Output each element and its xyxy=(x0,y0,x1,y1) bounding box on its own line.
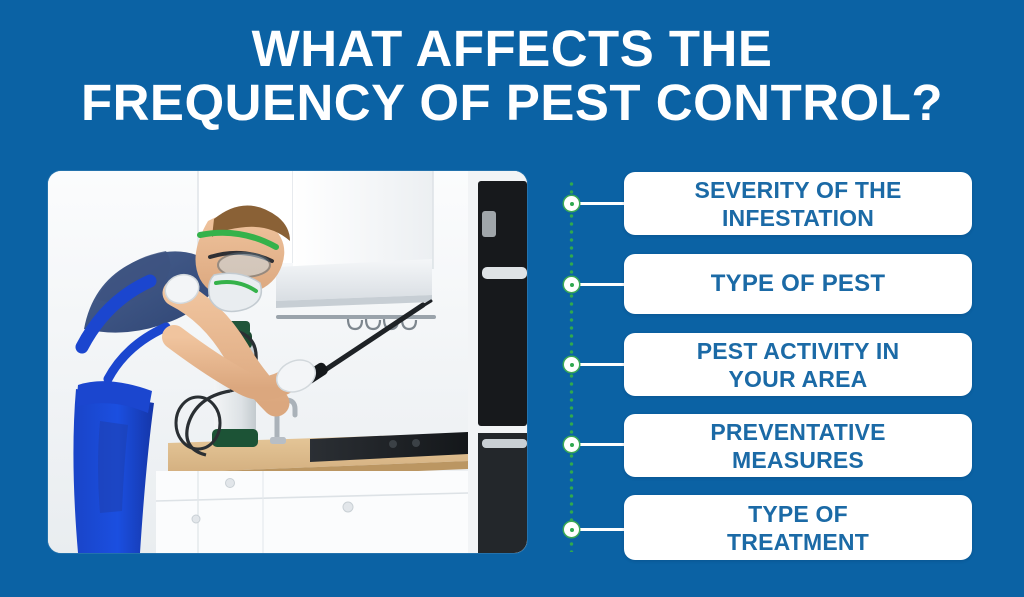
timeline-node-1 xyxy=(564,196,579,211)
connector-line-5 xyxy=(578,528,626,531)
connector-line-3 xyxy=(578,363,626,366)
factor-label-5-line2: TREATMENT xyxy=(727,529,869,555)
page-title: WHAT AFFECTS THE FREQUENCY OF PEST CONTR… xyxy=(0,22,1024,130)
factor-label-3-line2: YOUR AREA xyxy=(729,366,868,392)
title-line-2: FREQUENCY OF PEST CONTROL? xyxy=(0,76,1024,130)
factor-label-5-line1: TYPE OF xyxy=(748,501,848,527)
connector-line-4 xyxy=(578,443,626,446)
factor-label-4-line2: MEASURES xyxy=(732,447,864,473)
factor-label-3: PEST ACTIVITY IN YOUR AREA xyxy=(697,337,900,393)
timeline-node-5 xyxy=(564,522,579,537)
timeline-node-3 xyxy=(564,357,579,372)
connector-line-2 xyxy=(578,283,626,286)
factor-label-1: SEVERITY OF THE INFESTATION xyxy=(694,176,901,232)
timeline-node-2 xyxy=(564,277,579,292)
factor-label-4: PREVENTATIVE MEASURES xyxy=(710,418,885,474)
factor-label-2-line1: TYPE OF PEST xyxy=(711,270,885,297)
factor-label-4-line1: PREVENTATIVE xyxy=(710,419,885,445)
factor-box-3[interactable]: PEST ACTIVITY IN YOUR AREA xyxy=(624,333,972,396)
pest-control-photo xyxy=(48,171,527,553)
factor-label-3-line1: PEST ACTIVITY IN xyxy=(697,338,900,364)
factor-box-4[interactable]: PREVENTATIVE MEASURES xyxy=(624,414,972,477)
connector-line-1 xyxy=(578,202,626,205)
factor-box-5[interactable]: TYPE OF TREATMENT xyxy=(624,495,972,560)
factor-label-5: TYPE OF TREATMENT xyxy=(727,500,869,556)
timeline-node-4 xyxy=(564,437,579,452)
title-line-1: WHAT AFFECTS THE xyxy=(0,22,1024,76)
factor-box-1[interactable]: SEVERITY OF THE INFESTATION xyxy=(624,172,972,235)
infographic-canvas: WHAT AFFECTS THE FREQUENCY OF PEST CONTR… xyxy=(0,0,1024,597)
factor-box-2[interactable]: TYPE OF PEST xyxy=(624,254,972,314)
factor-label-1-line1: SEVERITY OF THE xyxy=(694,177,901,203)
factor-label-2: TYPE OF PEST xyxy=(711,270,885,298)
factor-label-1-line2: INFESTATION xyxy=(722,205,874,231)
kitchen-spraying-illustration xyxy=(48,171,527,553)
